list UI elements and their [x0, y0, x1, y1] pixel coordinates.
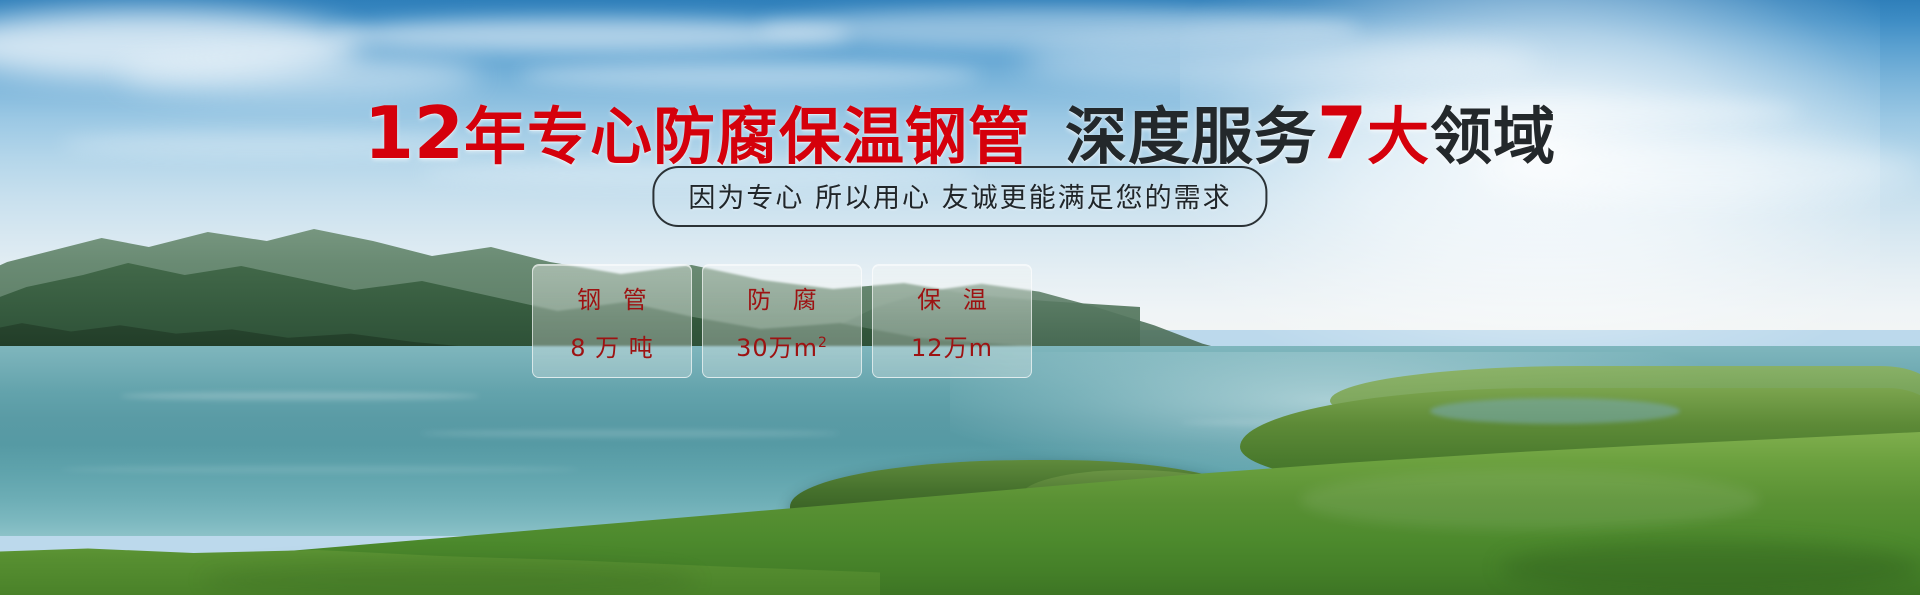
stat-card-anticorrosion-value: 30万m2	[736, 328, 828, 363]
banner-subtitle-text: 因为专心 所以用心 友诚更能满足您的需求	[688, 183, 1231, 214]
water-streak	[120, 392, 480, 400]
headline-years-number: 12	[364, 91, 464, 175]
stat-card-insulation-label: 保 温	[910, 280, 994, 315]
stat-card-insulation-value: 12万m	[911, 328, 993, 363]
headline-service: 深度服务	[1065, 100, 1317, 173]
banner-subtitle-pill: 因为专心 所以用心 友诚更能满足您的需求	[652, 166, 1267, 227]
stat-card-pipe-label: 钢 管	[570, 280, 654, 315]
banner-headline: 12年专心防腐保温钢管深度服务7大领域	[0, 86, 1920, 176]
stat-card-anticorrosion[interactable]: 防 腐 30万m2	[702, 264, 862, 378]
stat-cards: 钢 管 8 万 吨 防 腐 30万m2 保 温 12万m	[532, 264, 1032, 378]
stat-card-anticorrosion-superscript: 2	[818, 335, 828, 351]
grass-shadow	[1500, 540, 1920, 595]
water-streak	[420, 430, 840, 437]
water-streak	[60, 466, 580, 473]
stat-card-anticorrosion-label: 防 腐	[740, 280, 824, 315]
marsh-pool	[1430, 398, 1680, 424]
headline-fields-number: 7	[1317, 91, 1367, 175]
stat-card-pipe-value: 8 万 吨	[570, 328, 654, 363]
grass-shadow	[200, 560, 700, 595]
cloud	[1020, 34, 1540, 88]
stat-card-insulation[interactable]: 保 温 12万m	[872, 264, 1032, 378]
grass-highlight	[1300, 470, 1760, 530]
headline-years-unit: 年专心防腐保温钢管	[464, 100, 1031, 173]
cloud-wisp	[520, 62, 980, 88]
headline-fields-word: 领域	[1430, 100, 1556, 173]
stat-card-pipe-value-text: 8 万 吨	[570, 334, 654, 362]
stat-card-pipe[interactable]: 钢 管 8 万 吨	[532, 264, 692, 378]
headline-fields-measure: 大	[1367, 100, 1430, 173]
stat-card-insulation-value-text: 12万m	[911, 334, 993, 362]
stat-card-anticorrosion-value-text: 30万m	[736, 334, 818, 362]
hero-banner: 12年专心防腐保温钢管深度服务7大领域 因为专心 所以用心 友诚更能满足您的需求…	[0, 0, 1920, 595]
